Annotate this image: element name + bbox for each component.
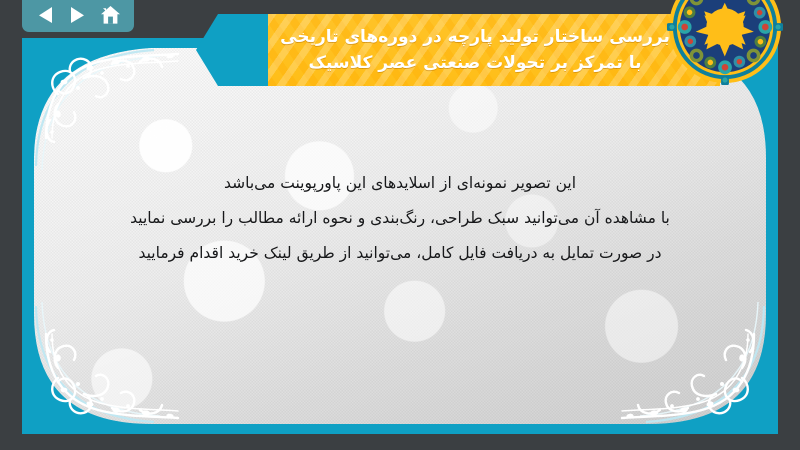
slide-title-line-1: بررسی ساختار تولید پارچه در دوره‌های تار… xyxy=(280,24,670,50)
body-line-1: این تصویر نمونه‌ای از اسلایدهای این پاور… xyxy=(62,166,738,201)
home-icon xyxy=(100,5,121,25)
nav-next-button[interactable] xyxy=(65,2,91,28)
slide-content-area: این تصویر نمونه‌ای از اسلایدهای این پاور… xyxy=(22,38,778,434)
triangle-left-icon xyxy=(37,6,54,24)
nav-previous-button[interactable] xyxy=(32,2,58,28)
slide-navigation-bar xyxy=(22,0,134,32)
slide-body-text: این تصویر نمونه‌ای از اسلایدهای این پاور… xyxy=(62,166,738,271)
slide-title-line-2: با تمرکز بر تحولات صنعتی عصر کلاسیک xyxy=(309,50,642,76)
persian-medallion-icon xyxy=(666,0,784,86)
slide-root: این تصویر نمونه‌ای از اسلایدهای این پاور… xyxy=(0,0,800,450)
slide-title-banner: بررسی ساختار تولید پارچه در دوره‌های تار… xyxy=(268,14,720,86)
banner-arrow-shape-icon xyxy=(196,14,270,86)
body-line-3: در صورت تمایل به دریافت فایل کامل، می‌تو… xyxy=(62,236,738,271)
nav-home-button[interactable] xyxy=(98,2,124,28)
triangle-right-icon xyxy=(69,6,86,24)
banner-body: بررسی ساختار تولید پارچه در دوره‌های تار… xyxy=(268,14,720,86)
body-line-2: با مشاهده آن می‌توانید سبک طراحی، رنگ‌بن… xyxy=(62,201,738,236)
